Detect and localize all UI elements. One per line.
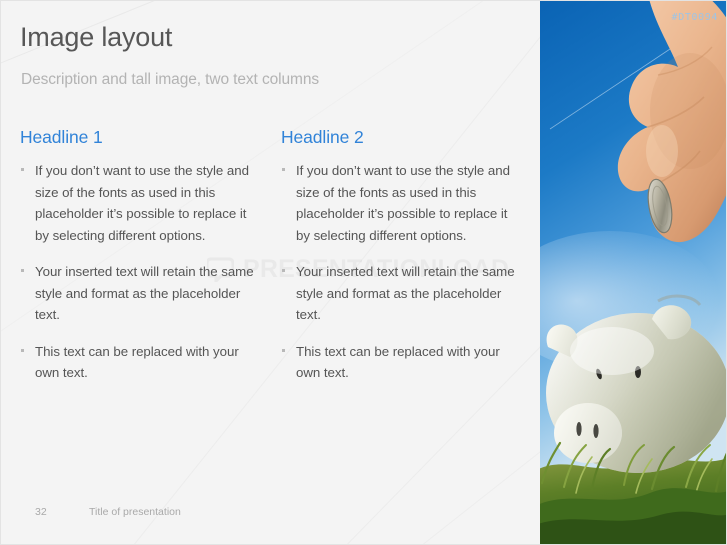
bullet-marker-icon [282, 349, 285, 352]
bullet-marker-icon [282, 269, 285, 272]
list-item: If you don’t want to use the style and s… [20, 160, 260, 246]
headline-1: Headline 1 [20, 127, 260, 148]
bullet-list-2: If you don’t want to use the style and s… [281, 160, 521, 384]
bullet-marker-icon [21, 269, 24, 272]
photo-panel: #DT0094 [540, 1, 727, 545]
page-subtitle: Description and tall image, two text col… [21, 71, 319, 90]
text-column-2: Headline 2 If you don’t want to use the … [281, 127, 521, 384]
list-item-text: Your inserted text will retain the same … [35, 264, 254, 322]
headline-2: Headline 2 [281, 127, 521, 148]
page-title: Image layout [20, 22, 172, 53]
list-item: Your inserted text will retain the same … [20, 261, 260, 326]
text-column-1: Headline 1 If you don’t want to use the … [20, 127, 260, 384]
slide: PRESENTATIONLOAD Image layout Descriptio… [0, 0, 727, 545]
bullet-marker-icon [282, 168, 285, 171]
template-code: #DT0094 [672, 12, 718, 23]
footer-presentation-title: Title of presentation [89, 506, 181, 518]
content-area: Image layout Description and tall image,… [1, 1, 540, 545]
list-item-text: This text can be replaced with your own … [296, 344, 500, 381]
list-item-text: This text can be replaced with your own … [35, 344, 239, 381]
list-item: This text can be replaced with your own … [281, 341, 521, 384]
list-item: If you don’t want to use the style and s… [281, 160, 521, 246]
list-item: This text can be replaced with your own … [20, 341, 260, 384]
list-item: Your inserted text will retain the same … [281, 261, 521, 326]
bullet-marker-icon [21, 168, 24, 171]
bullet-list-1: If you don’t want to use the style and s… [20, 160, 260, 384]
list-item-text: If you don’t want to use the style and s… [35, 163, 249, 243]
bullet-marker-icon [21, 349, 24, 352]
list-item-text: If you don’t want to use the style and s… [296, 163, 510, 243]
list-item-text: Your inserted text will retain the same … [296, 264, 515, 322]
piggy-bank-photo [540, 1, 727, 545]
slide-number: 32 [35, 506, 47, 518]
